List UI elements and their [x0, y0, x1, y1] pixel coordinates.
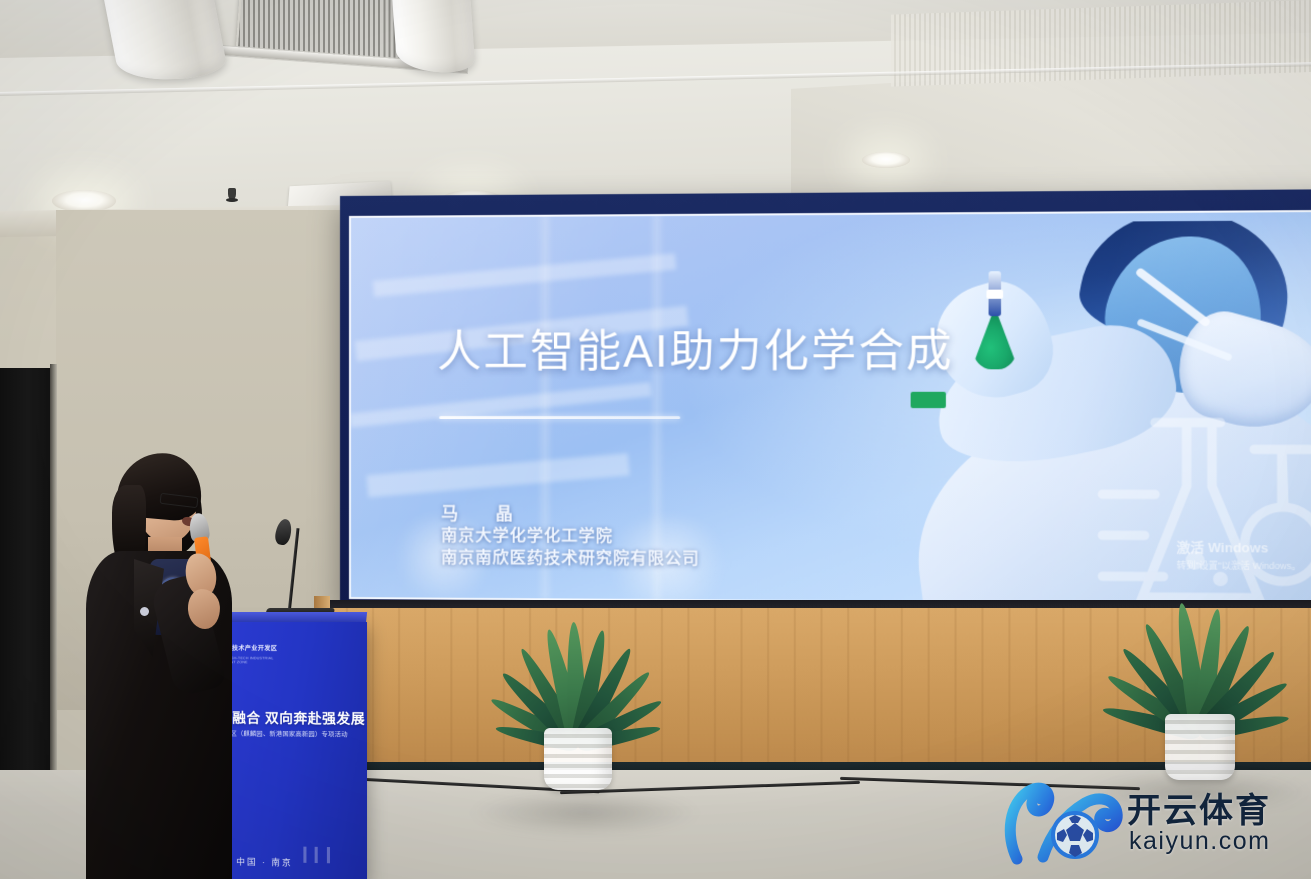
led-screen-bezel: 人工智能AI助力化学合成 马 晶 南京大学化学化工学院 南京南欣医药技术研究院有… [340, 189, 1311, 615]
led-screen-surface: 人工智能AI助力化学合成 马 晶 南京大学化学化工学院 南京南欣医药技术研究院有… [349, 210, 1311, 606]
potted-plant-right [1090, 596, 1310, 780]
slide-author: 马 晶 [441, 499, 523, 524]
flask-icon [971, 271, 1019, 377]
potted-plant-left [478, 618, 678, 790]
podium-decor-mark [315, 847, 318, 863]
flask-bulb [973, 316, 1017, 369]
windows-activation-title: 激活 Windows [1177, 537, 1301, 557]
conference-photo-scene: 人工智能AI助力化学合成 马 晶 南京大学化学化工学院 南京南欣医药技术研究院有… [0, 0, 1311, 879]
slide-bg-shelf [349, 382, 652, 427]
downlight-icon [862, 152, 910, 168]
slide-affiliation-line-1: 南京大学化学化工学院 [441, 525, 699, 548]
chemistry-glassware-overlay-icon [1094, 396, 1311, 606]
kaiyun-logo-icon [999, 773, 1129, 873]
podium-decor-mark [303, 847, 306, 863]
flask-label-band [986, 290, 1003, 299]
plant-pot [544, 728, 612, 790]
watermark-url: kaiyun.com [1129, 827, 1270, 856]
plant-pot [1165, 714, 1235, 780]
slide-bg-shelf [367, 453, 630, 497]
slide-title: 人工智能AI助力化学合成 [437, 314, 954, 380]
watermark: 开云体育 kaiyun.com [999, 773, 1299, 873]
presenter [78, 455, 258, 879]
podium-decor-mark [327, 847, 330, 863]
slide-affiliation: 南京大学化学化工学院 南京南欣医药技术研究院有限公司 [441, 525, 699, 571]
slide-bg-shelf [373, 253, 676, 297]
slide-affiliation-line-2: 南京南欣医药技术研究院有限公司 [441, 547, 699, 570]
sprinkler-head-icon [228, 188, 236, 200]
plant-shadow [470, 790, 700, 836]
windows-activation-watermark: 激活 Windows 转到"设置"以激活 Windows。 [1177, 537, 1301, 573]
slide-divider [439, 416, 680, 419]
watermark-brand: 开云体育 [1127, 783, 1271, 832]
presenter-pin [140, 607, 149, 616]
green-highlight-bar [911, 392, 946, 408]
podium-decor-marks [303, 847, 334, 869]
windows-activation-subtitle: 转到"设置"以激活 Windows。 [1177, 558, 1301, 572]
